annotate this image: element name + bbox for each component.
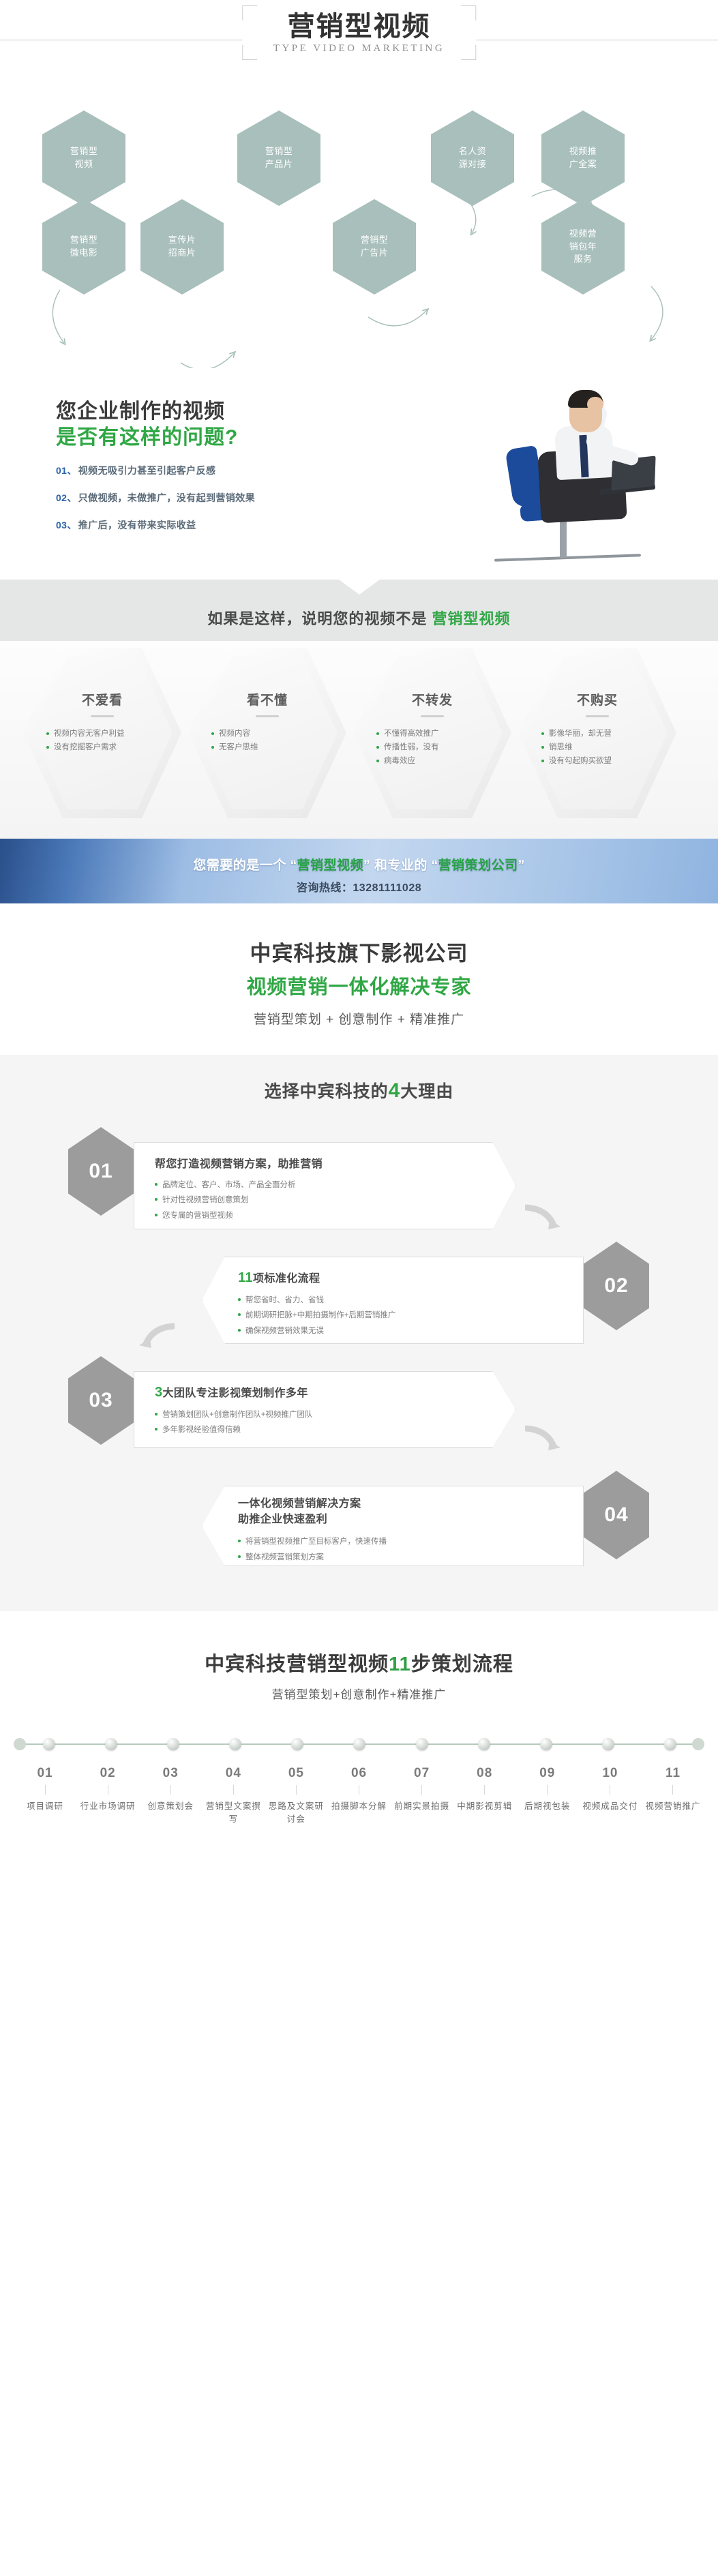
bullet-item-continuation: 病毒效应: [376, 754, 511, 768]
timeline-dot-icon: [540, 1738, 552, 1750]
page-title: 营销型视频: [273, 12, 445, 41]
step-4-number: 05: [265, 1766, 327, 1781]
reasons-heading: 选择中宾科技的4大理由: [0, 1078, 718, 1103]
step-divider: [108, 1785, 108, 1795]
reason-row-3: 04 一体化视频营销解决方案 助推企业快速盈利 将营销型视频推广至目标客户，快速…: [0, 1471, 718, 1573]
problem-hex-1-title: 看不懂: [188, 690, 346, 708]
reason-0-card[interactable]: 帮您打造视频营销方案，助推营销 品牌定位、客户、市场、产品全面分析 针对性视频营…: [134, 1142, 515, 1229]
problem-hex-1-bullets: 视频内容 无客户思维: [188, 727, 346, 754]
person-hand-shape: [587, 397, 603, 412]
step-0-label: 项目调研: [14, 1800, 76, 1813]
reasons-heading-b: 大理由: [400, 1082, 453, 1101]
banner-notch-icon: [339, 580, 380, 595]
step-item-3[interactable]: 04 营销型文案撰写: [202, 1766, 265, 1826]
bullet-item: 传播性弱，没有: [376, 740, 511, 754]
step-item-0[interactable]: 01 项目调研: [14, 1766, 76, 1826]
marketing-landing-page: 营销型视频 TYPE VIDEO MARKETING 营销型 视频 宣传片 招商…: [0, 0, 718, 1853]
timeline-dot-icon: [602, 1738, 614, 1750]
step-5-number: 06: [327, 1766, 390, 1781]
hex-service-7-label: 视频营 销包年 服务: [564, 228, 603, 267]
step-divider: [421, 1785, 422, 1795]
page-header: 营销型视频 TYPE VIDEO MARKETING: [0, 0, 718, 82]
step-divider: [672, 1785, 673, 1795]
reason-3-number: 04: [604, 1503, 628, 1527]
reason-2-heading: 3大团队专注影视策划制作多年: [155, 1383, 482, 1401]
problem-item-1-text: 只做视频，未做推广，没有起到营销效果: [78, 492, 255, 503]
reason-0-number: 01: [89, 1160, 113, 1183]
hex-service-4-label: 名人资 源对接: [453, 145, 492, 171]
reason-1-heading-b: 项标准化流程: [253, 1273, 320, 1285]
step-divider: [170, 1785, 171, 1795]
step-9-label: 视频成品交付: [579, 1800, 642, 1813]
cta-text-b: ” 和专业的 “: [363, 858, 438, 873]
reason-flow-arrow-down-left-icon: [136, 1322, 175, 1349]
reasons-heading-number: 4: [389, 1079, 401, 1102]
problem-hex-3-bullets: 影像华丽，却无营 销思维 没有勾起购买欲望: [518, 727, 676, 768]
timeline-dot-icon: [353, 1738, 365, 1750]
step-6-number: 07: [391, 1766, 453, 1781]
step-divider: [233, 1785, 234, 1795]
bullet-item: 不懂得高效推广: [376, 727, 511, 740]
hex-service-0-label: 营销型 视频: [65, 145, 104, 171]
company-heading-line2: 视频营销一体化解决专家: [0, 971, 718, 1000]
problem-hex-2[interactable]: 不转发 不懂得高效推广 传播性弱，没有 病毒效应: [353, 648, 511, 818]
problem-list-item: 01、视频无吸引力甚至引起客户反感: [56, 464, 255, 477]
banner-text: 如果是这样，说明您的视频不是 营销型视频: [0, 607, 718, 629]
hex-content: 不购买 影像华丽，却无营 销思维 没有勾起购买欲望: [518, 648, 676, 818]
hex-service-2-label: 营销型 产品片: [260, 145, 299, 171]
hex-service-3-label: 营销型 广告片: [355, 234, 394, 260]
steps-heading-a: 中宾科技营销型视频: [205, 1653, 389, 1675]
step-9-number: 10: [579, 1766, 642, 1781]
reason-3-bullets: 将营销型视频推广至目标客户，快速传播 整体视频营销策划方案: [238, 1534, 568, 1565]
four-reasons-section: 选择中宾科技的4大理由 01 帮您打造视频营销方案，助推营销 品牌定位、客户、市…: [0, 1055, 718, 1611]
step-10-number: 11: [642, 1766, 704, 1781]
hex-service-1-label: 宣传片 招商片: [163, 234, 202, 260]
step-6-label: 前期实景拍摄: [391, 1800, 453, 1813]
timeline-dot-icon: [105, 1738, 117, 1750]
step-2-number: 03: [139, 1766, 202, 1781]
step-divider: [45, 1785, 46, 1795]
services-hex-cluster: 营销型 视频 宣传片 招商片 营销型 产品片 营销型 广告片 名人资 源对接 视…: [0, 82, 718, 368]
problem-hex-2-bullets: 不懂得高效推广 传播性弱，没有 病毒效应: [353, 727, 511, 768]
bullet-item: 确保视频营销效果无误: [238, 1323, 568, 1338]
timeline-dot-icon: [229, 1738, 241, 1750]
step-7-number: 08: [453, 1766, 516, 1781]
step-7-label: 中期影视剪辑: [453, 1800, 516, 1813]
hex-content: 看不懂 视频内容 无客户思维: [188, 648, 346, 818]
businessman-photo: [453, 372, 699, 563]
step-1-label: 行业市场调研: [76, 1800, 139, 1813]
steps-timeline-track: [18, 1731, 700, 1758]
hotline-label: 咨询热线：: [297, 882, 353, 894]
step-item-7[interactable]: 08 中期影视剪辑: [453, 1766, 516, 1826]
step-0-number: 01: [14, 1766, 76, 1781]
hotline-number[interactable]: 13281111028: [353, 882, 421, 894]
title-underline-divider: [256, 715, 279, 717]
company-intro-section: 中宾科技旗下影视公司 视频营销一体化解决专家 营销型策划 + 创意制作 + 精准…: [0, 903, 718, 1055]
corner-top-right-icon: [461, 5, 476, 20]
reason-2-number: 03: [89, 1389, 113, 1412]
reason-row-2: 03 3大团队专注影视策划制作多年 营销策划团队+创意制作团队+视频推广团队 多…: [0, 1356, 718, 1471]
reason-1-bullets: 帮您省时、省力、省钱 前期调研把脉+中期拍摄制作+后期营销推广 确保视频营销效果…: [238, 1293, 568, 1338]
reasons-heading-a: 选择中宾科技的: [265, 1082, 389, 1101]
bullet-item-continuation: 销思维: [541, 740, 676, 754]
reason-2-card[interactable]: 3大团队专注影视策划制作多年 营销策划团队+创意制作团队+视频推广团队 多年影视…: [134, 1371, 515, 1448]
problem-list: 01、视频无吸引力甚至引起客户反感 02、只做视频，未做推广，没有起到营销效果 …: [56, 464, 255, 545]
corner-bottom-left-icon: [242, 45, 257, 60]
problem-hex-1[interactable]: 看不懂 视频内容 无客户思维: [188, 648, 346, 818]
bullet-item: 无客户思维: [211, 740, 346, 754]
cta-text-a: 您需要的是一个 “: [193, 858, 297, 873]
step-divider: [359, 1785, 359, 1795]
reason-1-card[interactable]: 11项标准化流程 帮您省时、省力、省钱 前期调研把脉+中期拍摄制作+后期营销推广…: [202, 1257, 584, 1344]
bullet-item: 前期调研把脉+中期拍摄制作+后期营销推广: [238, 1308, 568, 1323]
bullet-item: 没有挖掘客户需求: [46, 740, 181, 754]
bullet-item: 将营销型视频推广至目标客户，快速传播: [238, 1534, 568, 1549]
cta-highlight-2: 营销策划公司: [438, 858, 518, 873]
steps-heading-number: 11: [389, 1653, 411, 1675]
step-item-4[interactable]: 05 思路及文案研讨会: [265, 1766, 327, 1826]
reason-2-number-hex: 03: [68, 1356, 134, 1445]
eleven-steps-section: 中宾科技营销型视频11步策划流程 营销型策划+创意制作+精准推广 01 项目调研: [0, 1611, 718, 1853]
problem-hex-2-title: 不转发: [353, 690, 511, 708]
reason-0-heading: 帮您打造视频营销方案，助推营销: [155, 1154, 482, 1171]
bullet-item: 帮您省时、省力、省钱: [238, 1293, 568, 1308]
problem-hex-0[interactable]: 不爱看 视频内容无客户利益 没有挖掘客户需求: [23, 648, 181, 818]
step-10-label: 视频营销推广: [642, 1800, 704, 1813]
reason-flow-arrow-down-right-icon: [525, 1203, 563, 1231]
reason-row-0: 01 帮您打造视频营销方案，助推营销 品牌定位、客户、市场、产品全面分析 针对性…: [0, 1127, 718, 1242]
cta-headline: 您需要的是一个 “营销型视频” 和专业的 “营销策划公司”: [0, 855, 718, 873]
timeline-dot-icon: [43, 1738, 55, 1750]
problem-list-item: 03、推广后，没有带来实际收益: [56, 518, 255, 532]
bullet-item: 多年影视经验值得信赖: [155, 1422, 482, 1437]
hex-content: 不爱看 视频内容无客户利益 没有挖掘客户需求: [23, 648, 181, 818]
gray-callout-banner: 如果是这样，说明您的视频不是 营销型视频: [0, 580, 718, 641]
company-tagline: 营销型策划 + 创意制作 + 精准推广: [0, 1009, 718, 1028]
cta-highlight-1: 营销型视频: [297, 858, 364, 873]
reason-3-number-hex: 04: [584, 1471, 649, 1559]
reason-2-heading-b: 大团队专注影视策划制作多年: [163, 1388, 308, 1399]
step-2-label: 创意策划会: [139, 1800, 202, 1813]
company-heading-line1: 中宾科技旗下影视公司: [0, 936, 718, 967]
header-title-frame: 营销型视频 TYPE VIDEO MARKETING: [242, 5, 476, 60]
reason-2-heading-number: 3: [155, 1385, 163, 1400]
reason-row-1: 02 11项标准化流程 帮您省时、省力、省钱 前期调研把脉+中期拍摄制作+后期营…: [0, 1242, 718, 1356]
problem-item-0-text: 视频无吸引力甚至引起客户反感: [78, 465, 216, 476]
reason-1-heading-number: 11: [238, 1270, 253, 1285]
problem-item-0-number: 01、: [56, 465, 77, 476]
reason-0-bullets: 品牌定位、客户、市场、产品全面分析 针对性视频营销创意策划 您专属的营销型视频: [155, 1178, 482, 1223]
reason-1-heading: 11项标准化流程: [238, 1269, 568, 1286]
step-item-9[interactable]: 10 视频成品交付: [579, 1766, 642, 1826]
step-divider: [484, 1785, 485, 1795]
step-item-10[interactable]: 11 视频营销推广: [642, 1766, 704, 1826]
four-problems-section: 不爱看 视频内容无客户利益 没有挖掘客户需求 看不懂 视频内容 无客户思维: [0, 641, 718, 839]
step-3-label: 营销型文案撰写: [202, 1800, 265, 1826]
step-8-label: 后期视包装: [516, 1800, 579, 1813]
problem-item-2-text: 推广后，没有带来实际收益: [78, 520, 196, 530]
banner-highlight: 营销型视频: [432, 610, 511, 627]
corner-top-left-icon: [242, 5, 257, 20]
steps-heading-b: 步策划流程: [411, 1653, 513, 1675]
chair-base-shape: [494, 554, 641, 562]
title-underline-divider: [91, 715, 114, 717]
hex-service-6-label: 营销型 微电影: [65, 234, 104, 260]
step-divider: [296, 1785, 297, 1795]
timeline-dot-icon: [416, 1738, 428, 1750]
steps-subtitle: 营销型策划+创意制作+精准推广: [0, 1685, 718, 1702]
reason-0-number-hex: 01: [68, 1127, 134, 1216]
cta-blue-banner: 您需要的是一个 “营销型视频” 和专业的 “营销策划公司” 咨询热线：13281…: [0, 839, 718, 903]
problem-hex-0-bullets: 视频内容无客户利益 没有挖掘客户需求: [23, 727, 181, 754]
steps-list: 01 项目调研 02 行业市场调研 03 创意策划会 04 营销型文案撰写 05: [14, 1766, 704, 1826]
title-underline-divider: [421, 715, 444, 717]
hex-content: 不转发 不懂得高效推广 传播性弱，没有 病毒效应: [353, 648, 511, 818]
step-item-6[interactable]: 07 前期实景拍摄: [391, 1766, 453, 1826]
problem-hex-3[interactable]: 不购买 影像华丽，却无营 销思维 没有勾起购买欲望: [518, 648, 676, 818]
timeline-end-cap-icon: [692, 1738, 704, 1750]
page-subtitle: TYPE VIDEO MARKETING: [273, 43, 445, 55]
step-3-number: 04: [202, 1766, 265, 1781]
reason-2-bullets: 营销策划团队+创意制作团队+视频推广团队 多年影视经验值得信赖: [155, 1407, 482, 1438]
reason-1-number-hex: 02: [584, 1242, 649, 1330]
bullet-item: 营销策划团队+创意制作团队+视频推广团队: [155, 1407, 482, 1422]
step-item-2[interactable]: 03 创意策划会: [139, 1766, 202, 1826]
problem-list-item: 02、只做视频，未做推广，没有起到营销效果: [56, 491, 255, 505]
timeline-dot-icon: [478, 1738, 490, 1750]
bullet-item: 针对性视频营销创意策划: [155, 1193, 482, 1208]
problem-heading-line2: 是否有这样的问题?: [56, 420, 238, 450]
problem-item-1-number: 02、: [56, 492, 77, 503]
step-item-1[interactable]: 02 行业市场调研: [76, 1766, 139, 1826]
problem-statement-section: 您企业制作的视频 是否有这样的问题? 01、视频无吸引力甚至引起客户反感 02、…: [0, 368, 718, 580]
cta-text-c: ”: [518, 858, 525, 873]
reason-flow-arrow-down-right-icon: [525, 1424, 563, 1452]
step-5-label: 拍摄脚本分解: [327, 1800, 390, 1813]
problem-hex-3-title: 不购买: [518, 690, 676, 708]
timeline-start-cap-icon: [14, 1738, 26, 1750]
step-1-number: 02: [76, 1766, 139, 1781]
timeline-dot-icon: [291, 1738, 303, 1750]
reason-3-card[interactable]: 一体化视频营销解决方案 助推企业快速盈利 将营销型视频推广至目标客户，快速传播 …: [202, 1486, 584, 1566]
bullet-item: 没有勾起购买欲望: [541, 754, 676, 768]
hex-service-5-label: 视频推 广全案: [564, 145, 603, 171]
steps-heading: 中宾科技营销型视频11步策划流程: [0, 1648, 718, 1677]
reason-1-number: 02: [604, 1274, 628, 1298]
timeline-dot-icon: [167, 1738, 179, 1750]
title-underline-divider: [586, 715, 609, 717]
reason-0-heading-a: 帮您打造视频营销方案，助推营销: [155, 1158, 323, 1170]
step-divider: [547, 1785, 548, 1795]
step-item-8[interactable]: 09 后期视包装: [516, 1766, 579, 1826]
problem-hex-0-title: 不爱看: [23, 690, 181, 708]
step-divider: [610, 1785, 610, 1795]
bullet-item: 视频内容: [211, 727, 346, 740]
bullet-item: 视频内容无客户利益: [46, 727, 181, 740]
problem-item-2-number: 03、: [56, 520, 77, 530]
bullet-item: 影像华丽，却无营: [541, 727, 676, 740]
banner-prefix: 如果是这样，说明您的视频不是: [207, 610, 432, 627]
corner-bottom-right-icon: [461, 45, 476, 60]
step-item-5[interactable]: 06 拍摄脚本分解: [327, 1766, 390, 1826]
bullet-item: 品牌定位、客户、市场、产品全面分析: [155, 1178, 482, 1193]
cta-hotline[interactable]: 咨询热线：13281111028: [0, 878, 718, 895]
bullet-item: 您专属的营销型视频: [155, 1208, 482, 1223]
reason-3-heading: 一体化视频营销解决方案 助推企业快速盈利: [238, 1496, 568, 1527]
bullet-item: 整体视频营销策划方案: [238, 1550, 568, 1565]
step-4-label: 思路及文案研讨会: [265, 1800, 327, 1826]
step-8-number: 09: [516, 1766, 579, 1781]
timeline-dot-icon: [664, 1738, 676, 1750]
